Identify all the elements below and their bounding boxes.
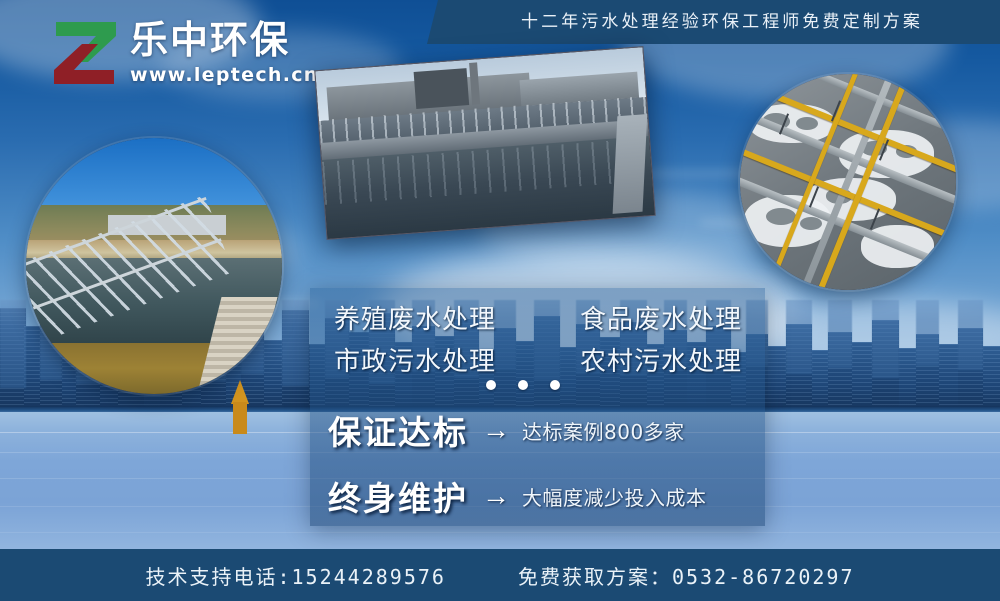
navigation-tower-icon bbox=[233, 402, 247, 434]
promo-item: 终身维护 → 大幅度减少投入成本 bbox=[328, 472, 758, 520]
promotional-banner: 乐中环保 www.leptech.cn 十二年污水处理经验环保工程师免费定制方案 bbox=[0, 0, 1000, 601]
service-item[interactable]: 农村污水处理 bbox=[580, 344, 742, 380]
ellipsis-dots bbox=[486, 380, 560, 390]
z-monogram-logo-icon bbox=[48, 16, 122, 90]
promo-item: 保证达标 → 达标案例800多家 bbox=[328, 406, 758, 454]
dot-icon bbox=[550, 380, 560, 390]
arrow-right-icon: → bbox=[482, 482, 510, 510]
service-item[interactable]: 养殖废水处理 bbox=[334, 302, 496, 338]
service-row: 市政污水处理 农村污水处理 bbox=[334, 344, 742, 380]
promo-title: 终身维护 bbox=[328, 472, 468, 520]
brand-website: www.leptech.cn bbox=[130, 63, 319, 87]
promo-list: 保证达标 → 达标案例800多家 终身维护 → 大幅度减少投入成本 bbox=[328, 406, 758, 538]
info-panel: 养殖废水处理 食品废水处理 市政污水处理 农村污水处理 保证达标 → 达标案例8… bbox=[310, 288, 765, 526]
photo-aeration-basin bbox=[314, 46, 656, 240]
promo-detail: 达标案例800多家 bbox=[522, 416, 685, 445]
arrow-right-icon: → bbox=[482, 416, 510, 444]
brand-name: 乐中环保 bbox=[130, 18, 319, 62]
promo-detail: 大幅度减少投入成本 bbox=[522, 482, 707, 511]
support-phone[interactable]: 技术支持电话:15244289576 bbox=[145, 561, 446, 590]
headline-bar: 十二年污水处理经验环保工程师免费定制方案 bbox=[420, 0, 1000, 44]
service-item[interactable]: 市政污水处理 bbox=[334, 344, 496, 380]
photo-aeration-tanks bbox=[740, 74, 956, 290]
photo-clarifier-bridge bbox=[26, 138, 282, 394]
contact-footer: 技术支持电话:15244289576 免费获取方案：0532-86720297 bbox=[0, 549, 1000, 601]
service-list: 养殖废水处理 食品废水处理 市政污水处理 农村污水处理 bbox=[334, 302, 742, 386]
headline-text: 十二年污水处理经验环保工程师免费定制方案 bbox=[462, 0, 982, 44]
dot-icon bbox=[518, 380, 528, 390]
brand-text: 乐中环保 www.leptech.cn bbox=[130, 18, 319, 87]
service-item[interactable]: 食品废水处理 bbox=[580, 302, 742, 338]
brand-logo[interactable]: 乐中环保 www.leptech.cn bbox=[48, 14, 298, 94]
consult-phone[interactable]: 免费获取方案：0532-86720297 bbox=[518, 561, 855, 590]
promo-title: 保证达标 bbox=[328, 406, 468, 454]
dot-icon bbox=[486, 380, 496, 390]
service-row: 养殖废水处理 食品废水处理 bbox=[334, 302, 742, 338]
